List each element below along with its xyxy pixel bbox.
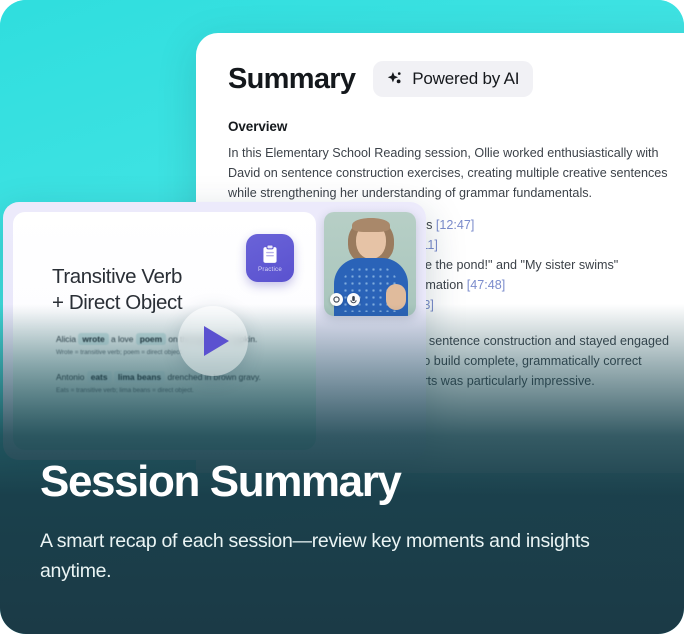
example-subject: Alicia [56, 334, 76, 344]
teacher-video-thumbnail[interactable] [324, 212, 416, 316]
example-sentences: Alicia wrote a love poem on the back of … [56, 334, 298, 410]
play-button[interactable] [178, 306, 248, 376]
example-line: Antonio eats lima beans drenched in brow… [56, 372, 298, 383]
overview-text: In this Elementary School Reading sessio… [228, 143, 683, 203]
practice-badge-label: Practice [258, 266, 282, 273]
sparkle-icon [385, 70, 404, 89]
example-subject: Antonio [56, 372, 84, 382]
example-note: Eats = transitive verb; lima beans = dir… [56, 386, 298, 396]
timestamp[interactable]: [12:47] [436, 218, 475, 232]
mic-toggle-icon[interactable] [347, 293, 360, 306]
summary-header: Summary Powered by AI [228, 61, 684, 97]
object-chip: poem [136, 333, 166, 345]
powered-by-ai-badge: Powered by AI [373, 61, 533, 97]
clipboard-icon [261, 244, 279, 265]
play-icon [204, 326, 229, 356]
camera-toggle-icon[interactable] [330, 293, 343, 306]
avatar-hand [386, 284, 406, 310]
ai-badge-label: Powered by AI [412, 69, 519, 89]
example-mid: a love [111, 334, 133, 344]
hero-subtitle: A smart recap of each session—review key… [40, 526, 644, 586]
overview-heading: Overview [228, 119, 684, 134]
example-note: Wrote = transitive verb; poem = direct o… [56, 348, 298, 358]
hero-title: Session Summary [40, 456, 644, 508]
verb-chip: wrote [78, 333, 108, 345]
slide-title: Transitive Verb+ Direct Object [52, 264, 182, 316]
example-line: Alicia wrote a love poem on the back of … [56, 334, 298, 345]
avatar-fringe [352, 218, 390, 232]
lesson-slide: Transitive Verb+ Direct Object Practice … [13, 212, 316, 450]
practice-badge[interactable]: Practice [246, 234, 294, 282]
page-title: Summary [228, 63, 355, 96]
hero-copy: Session Summary A smart recap of each se… [40, 456, 644, 586]
object-chip: lima beans [114, 371, 165, 383]
timestamp[interactable]: [47:48] [467, 278, 506, 292]
promo-card-frame: Summary Powered by AI Overview In this E… [0, 0, 684, 634]
verb-chip: eats [87, 371, 112, 383]
